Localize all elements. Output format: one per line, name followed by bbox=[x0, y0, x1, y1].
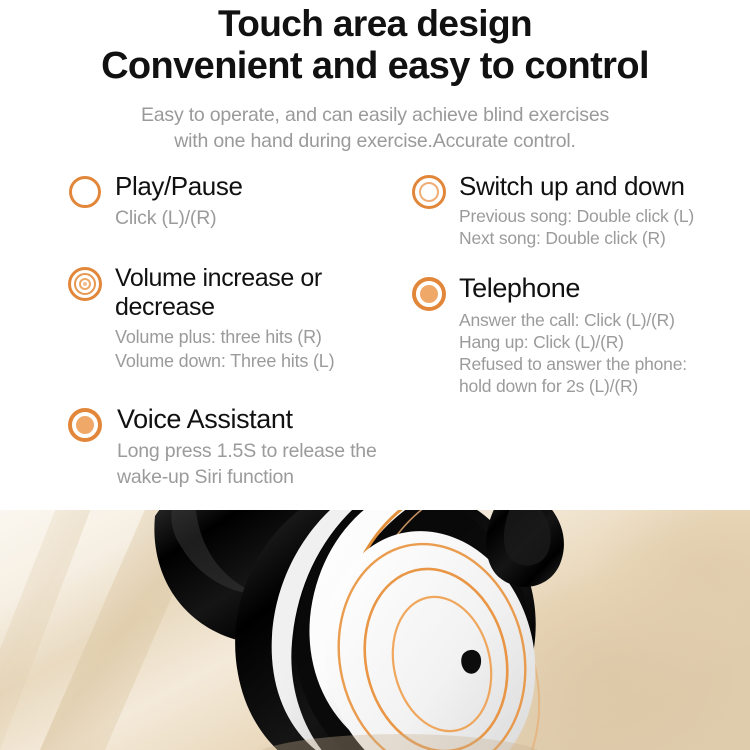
earbud-illustration bbox=[0, 508, 750, 750]
feature-telephone: Telephone Answer the call: Click (L)/(R)… bbox=[412, 274, 750, 397]
feature-volume: Volume increase or decrease Volume plus:… bbox=[68, 264, 418, 373]
detail-line: Volume down: Three hits (L) bbox=[115, 350, 418, 374]
feature-heading: Voice Assistant bbox=[117, 405, 418, 434]
feature-detail-lines: Click (L)/(R) bbox=[115, 205, 418, 231]
title-line-2: Convenient and easy to control bbox=[0, 45, 750, 88]
feature-play-pause: Play/Pause Click (L)/(R) bbox=[68, 172, 418, 231]
detail-line: Previous song: Double click (L) bbox=[459, 205, 750, 227]
ring-filled-icon bbox=[68, 408, 102, 442]
feature-detail-lines: Long press 1.5S to release the wake-up S… bbox=[117, 438, 418, 490]
feature-heading: Play/Pause bbox=[115, 172, 418, 201]
detail-line: Hang up: Click (L)/(R) bbox=[459, 331, 750, 353]
feature-heading: Volume increase or decrease bbox=[115, 264, 418, 322]
detail-line: Next song: Double click (R) bbox=[459, 227, 750, 249]
detail-line: Answer the call: Click (L)/(R) bbox=[459, 309, 750, 331]
feature-column-left: Play/Pause Click (L)/(R) Volume increase… bbox=[68, 172, 418, 490]
feature-switch-track: Switch up and down Previous song: Double… bbox=[412, 172, 750, 249]
ring-filled-icon bbox=[412, 277, 446, 311]
feature-heading: Switch up and down bbox=[459, 172, 750, 201]
title-line-1: Touch area design bbox=[0, 2, 750, 45]
product-photo bbox=[0, 508, 750, 750]
double-ring-icon bbox=[412, 175, 446, 209]
feature-detail-lines: Answer the call: Click (L)/(R) Hang up: … bbox=[459, 309, 750, 397]
detail-line: Volume plus: three hits (R) bbox=[115, 326, 418, 350]
feature-column-right: Switch up and down Previous song: Double… bbox=[412, 172, 750, 397]
subtitle-line-1: Easy to operate, and can easily achieve … bbox=[0, 102, 750, 128]
page-title: Touch area design Convenient and easy to… bbox=[0, 0, 750, 88]
concentric-target-icon bbox=[68, 267, 102, 301]
detail-line: hold down for 2s (L)/(R) bbox=[459, 375, 750, 397]
detail-line: wake-up Siri function bbox=[117, 464, 418, 490]
feature-detail-lines: Previous song: Double click (L) Next son… bbox=[459, 205, 750, 249]
detail-line: Click (L)/(R) bbox=[115, 205, 418, 231]
subtitle: Easy to operate, and can easily achieve … bbox=[0, 102, 750, 154]
info-panel: Touch area design Convenient and easy to… bbox=[0, 0, 750, 510]
feature-detail-lines: Volume plus: three hits (R) Volume down:… bbox=[115, 326, 418, 373]
feature-heading: Telephone bbox=[459, 274, 750, 303]
ring-outline-icon bbox=[68, 175, 102, 209]
feature-voice-assistant: Voice Assistant Long press 1.5S to relea… bbox=[68, 405, 418, 490]
subtitle-line-2: with one hand during exercise.Accurate c… bbox=[0, 128, 750, 154]
detail-line: Long press 1.5S to release the bbox=[117, 438, 418, 464]
detail-line: Refused to answer the phone: bbox=[459, 353, 750, 375]
